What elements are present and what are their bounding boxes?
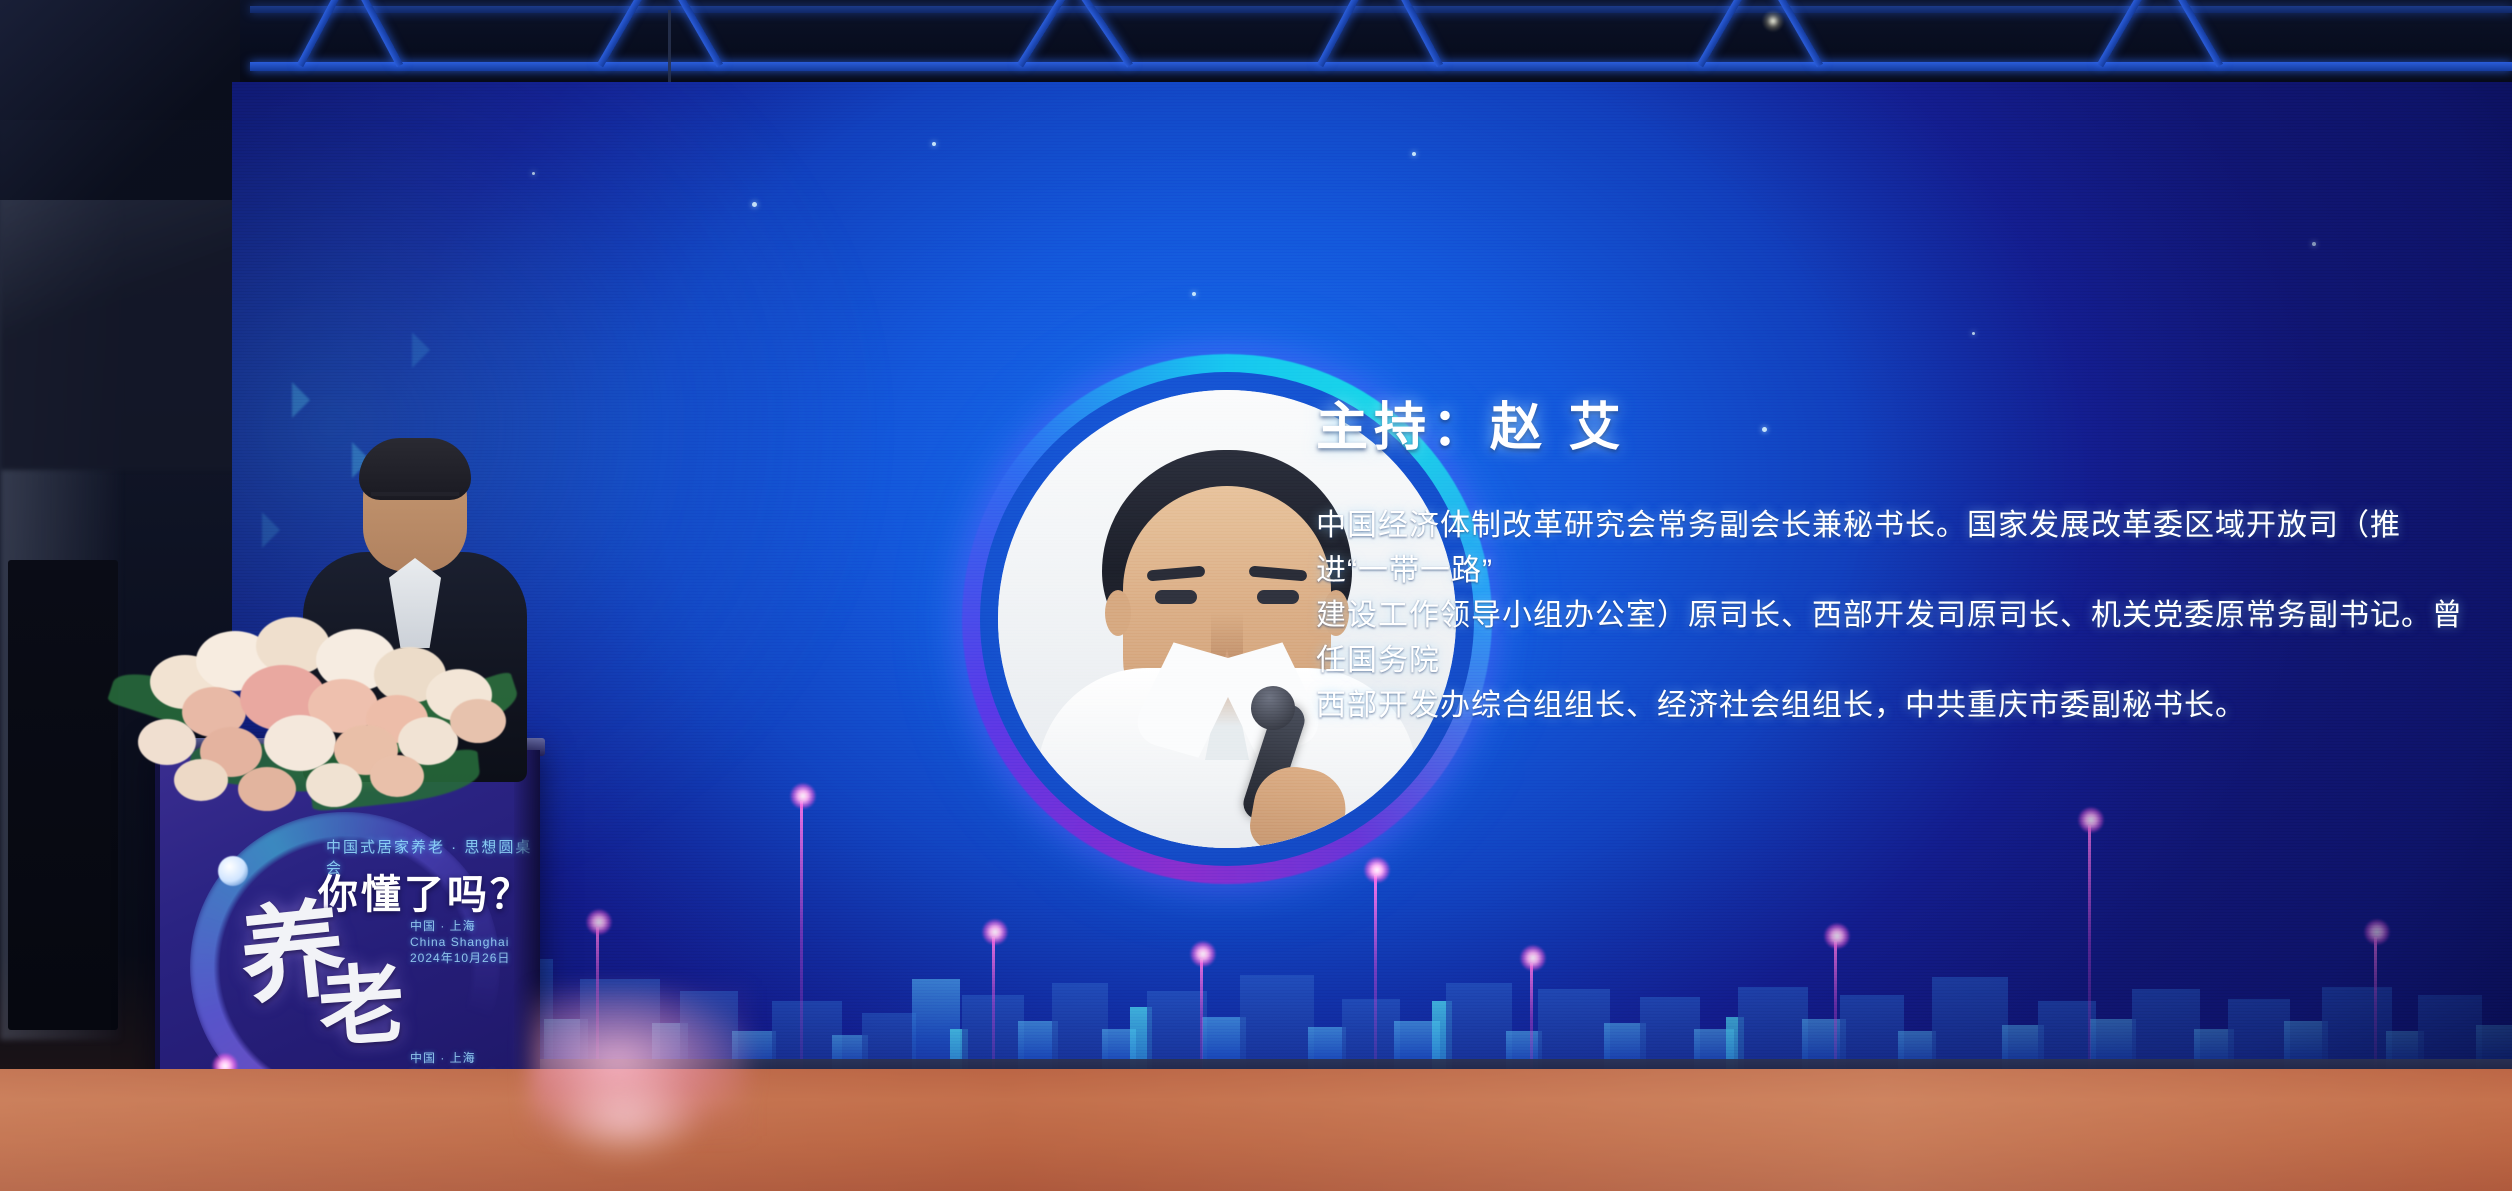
truss-beam-main xyxy=(250,62,2512,71)
flower-arrangement xyxy=(130,595,520,795)
speaker-bio-line-1: 中国经济体制改革研究会常务副会长兼秘书长。国家发展改革委区域开放司（推进“一带一… xyxy=(1316,503,2466,593)
podium-location-cn-lower: 中国 · 上海 xyxy=(410,1050,476,1066)
podium-char-lao: 老 xyxy=(314,933,409,1064)
podium-location-en: China Shanghai xyxy=(410,934,509,950)
speaker-title: 主持：赵 艾 xyxy=(1316,400,2466,457)
stage-photo: 主持：赵 艾 中国经济体制改革研究会常务副会长兼秘书长。国家发展改革委区域开放司… xyxy=(0,0,2512,1191)
podium-question: 你懂了吗？ xyxy=(318,862,533,920)
screen-text-block: 主持：赵 艾 中国经济体制改革研究会常务副会长兼秘书长。国家发展改革委区域开放司… xyxy=(1316,400,2466,728)
ceiling-light xyxy=(1762,10,1784,32)
podium-location-cn: 中国 · 上海 xyxy=(410,918,476,934)
floor-reflection xyxy=(0,1069,2512,1191)
speaker-bio-line-2: 建设工作领导小组办公室）原司长、西部开发司原司长、机关党委原常务副书记。曾任国务… xyxy=(1316,593,2466,683)
venue-floor xyxy=(0,1069,2512,1191)
venue-doorway xyxy=(8,560,118,1030)
lens-blur-artifact-core xyxy=(545,1073,705,1163)
ceiling-dark-corner xyxy=(0,0,240,200)
podium-date: 2024年10月26日 xyxy=(410,950,510,966)
speaker-bio-line-3: 西部开发办综合组组长、经济社会组组长，中共重庆市委副秘书长。 xyxy=(1316,683,2466,728)
truss-beam-upper xyxy=(250,6,2512,13)
